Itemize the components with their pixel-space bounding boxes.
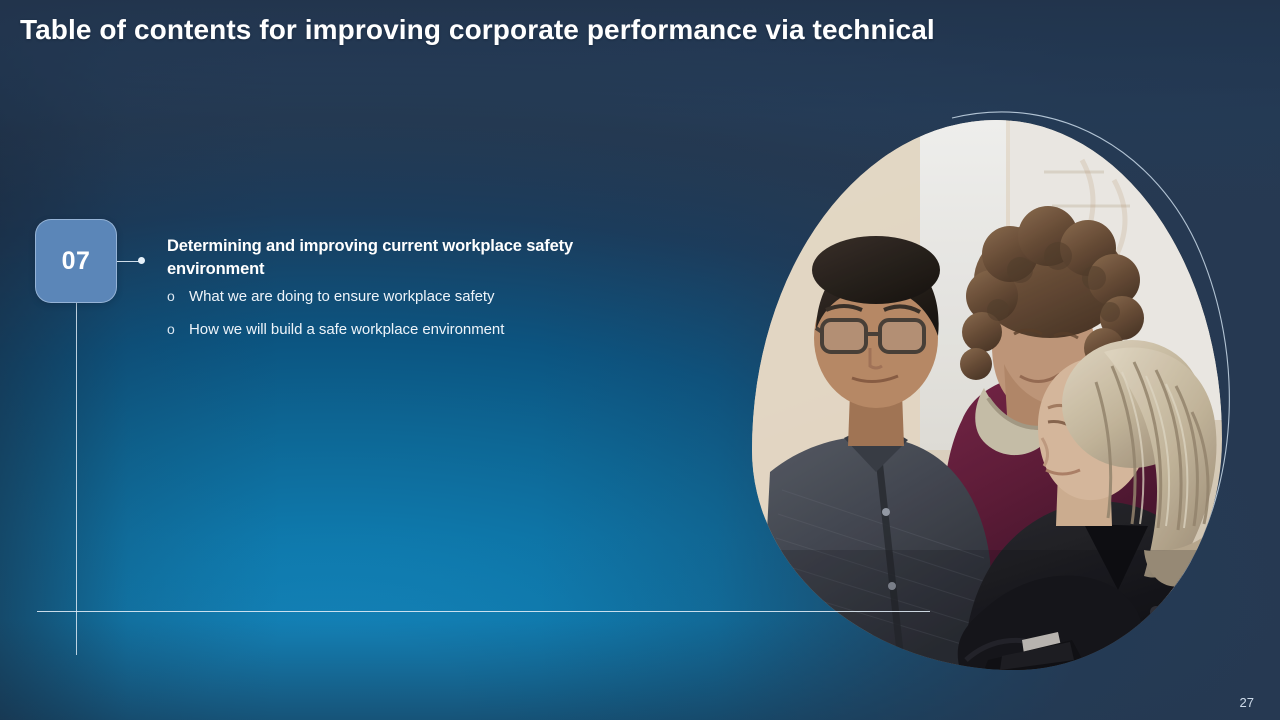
section-number-badge[interactable]: 07 — [35, 219, 117, 303]
horizontal-rule — [37, 611, 930, 612]
list-item[interactable]: o What we are doing to ensure workplace … — [167, 287, 637, 307]
circle-bullet-icon: o — [167, 320, 189, 339]
section-number-label: 07 — [62, 247, 91, 276]
toc-entry: Determining and improving current workpl… — [167, 235, 637, 354]
slide-canvas: Table of contents for improving corporat… — [0, 0, 1280, 720]
photo-blob — [752, 120, 1222, 670]
vertical-rule — [76, 300, 77, 655]
page-number: 27 — [1240, 695, 1254, 710]
toc-entry-heading: Determining and improving current workpl… — [167, 235, 637, 280]
connector-dot-icon — [138, 257, 145, 264]
list-item-label: What we are doing to ensure workplace sa… — [189, 287, 637, 307]
list-item[interactable]: o How we will build a safe workplace env… — [167, 320, 637, 340]
connector-line — [117, 261, 139, 262]
page-title: Table of contents for improving corporat… — [20, 14, 1170, 46]
list-item-label: How we will build a safe workplace envir… — [189, 320, 637, 340]
circle-bullet-icon: o — [167, 287, 189, 306]
toc-sub-list: o What we are doing to ensure workplace … — [167, 287, 637, 341]
